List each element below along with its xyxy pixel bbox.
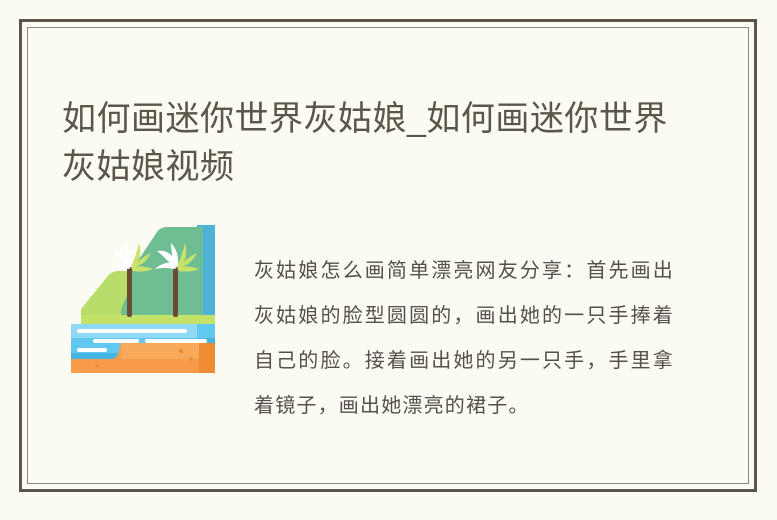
page-title: 如何画迷你世界灰姑娘_如何画迷你世界灰姑娘视频 <box>62 95 674 191</box>
article-paragraph: 灰姑娘怎么画简单漂亮网友分享：首先画出灰姑娘的脸型圆圆的，画出她的一只手捧着自己… <box>254 248 674 428</box>
beach-island-illustration <box>71 225 215 373</box>
article-card-inner-frame: 如何画迷你世界灰姑娘_如何画迷你世界灰姑娘视频 <box>27 27 749 484</box>
article-card: 如何画迷你世界灰姑娘_如何画迷你世界灰姑娘视频 <box>19 19 757 492</box>
article-content: 灰姑娘怎么画简单漂亮网友分享：首先画出灰姑娘的脸型圆圆的，画出她的一只手捧着自己… <box>62 216 728 473</box>
